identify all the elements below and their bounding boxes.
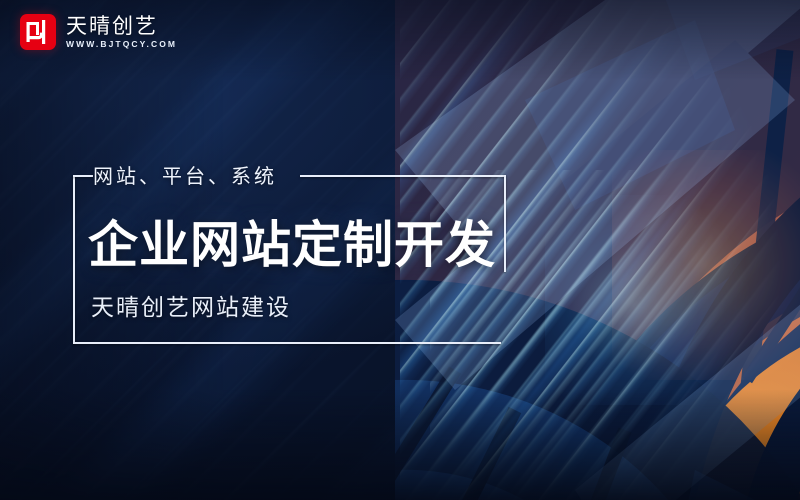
hero-banner: 天晴创艺 WWW.BJTQCY.COM 网站、平台、系统 企业网站定制开发 天晴…	[0, 0, 800, 500]
hero-tagline: 天晴创艺网站建设	[91, 288, 291, 322]
brand-logo[interactable]: 天晴创艺 WWW.BJTQCY.COM	[20, 14, 177, 50]
website-url: WWW.BJTQCY.COM	[66, 40, 177, 49]
hero-subtitle: 网站、平台、系统	[93, 160, 277, 189]
hero-title: 企业网站定制开发	[88, 205, 496, 277]
brand-text-group: 天晴创艺 WWW.BJTQCY.COM	[66, 16, 177, 49]
company-name: 天晴创艺	[66, 16, 177, 38]
company-monogram-icon	[20, 14, 56, 50]
